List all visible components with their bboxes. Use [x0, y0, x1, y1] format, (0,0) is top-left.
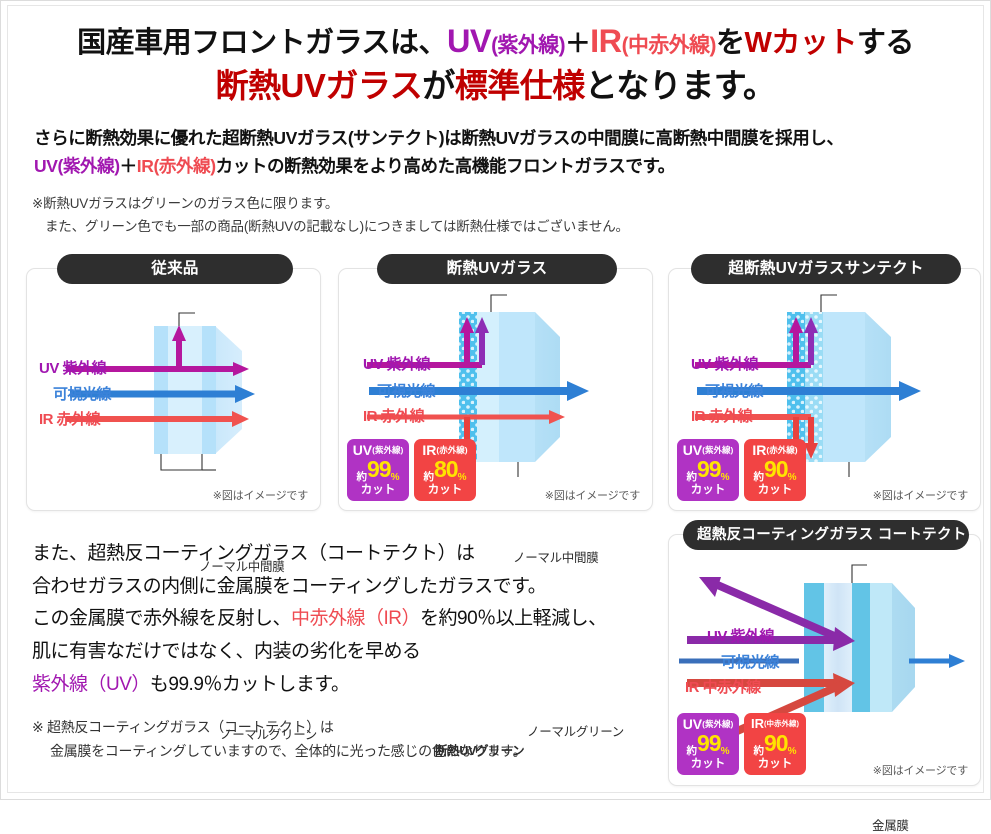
- badge-ir-bottom-coat-tect: カット: [744, 759, 806, 771]
- main-headline: 国産車用フロントガラスは、UV(紫外線)＋IR(中赤外線)をWカットする 断熱U…: [8, 22, 983, 106]
- badge-ir-head-suntect: IR(赤外線): [744, 443, 806, 457]
- badge-uv-value-coat-tect: 約99%: [677, 732, 739, 757]
- ray-label-uv-heat-shield: UV 紫外線: [363, 353, 430, 374]
- coat-tect-line-2: 合わせガラスの内側に金属膜をコーティングしたガラスです。: [32, 571, 662, 604]
- disclaimer-notes: ※断熱UVガラスはグリーンのガラス色に限ります。 また、グリーン色でも一部の商品…: [32, 192, 972, 239]
- badge-ir-bottom-heat-shield: カット: [414, 485, 476, 497]
- badge-ir-head-heat-shield: IR(赤外線): [414, 443, 476, 457]
- card-coat-tect: 超熱反コーティングガラス コートテクト: [668, 534, 981, 786]
- text-run: が: [422, 67, 455, 104]
- ray-label-ir-heat-shield: IR 赤外線: [363, 405, 424, 426]
- text-run: IR(赤外線): [137, 156, 216, 176]
- lead-paragraph: さらに断熱効果に優れた超断熱UVガラス(サンテクト)は断熱UVガラスの中間膜に高…: [34, 124, 974, 181]
- text-run: UV(紫外線): [34, 156, 120, 176]
- ray-label-ir-suntect: IR 赤外線: [691, 405, 752, 426]
- card-title-suntect: 超断熱UVガラスサンテクト: [691, 254, 961, 284]
- badge-uv-bottom-suntect: カット: [677, 485, 739, 497]
- badge-uv-head-coat-tect: UV(紫外線): [677, 717, 739, 731]
- text-run: 紫外線（UV）: [32, 674, 150, 695]
- text-run: する: [857, 27, 914, 59]
- callout-metal-film-coat-tect: 金属膜: [872, 815, 909, 834]
- badges-suntect: UV(紫外線) 約99% カット IR(赤外線) 約90% カット: [677, 439, 806, 501]
- badge-uv-value-heat-shield: 約99%: [347, 458, 409, 483]
- text-run: UV: [447, 23, 491, 59]
- badge-uv-head-suntect: UV(紫外線): [677, 443, 739, 457]
- headline-line-1: 国産車用フロントガラスは、UV(紫外線)＋IR(中赤外線)をWカットする: [8, 22, 983, 62]
- text-run: 断熱UVガラス: [216, 67, 423, 104]
- badge-uv-coat-tect: UV(紫外線) 約99% カット: [677, 713, 739, 775]
- badge-ir-suntect: IR(赤外線) 約90% カット: [744, 439, 806, 501]
- headline-line-2: 断熱UVガラスが標準仕様となります。: [8, 66, 983, 106]
- text-run: 国産車用フロントガラスは、: [77, 27, 447, 59]
- lead-line-1: さらに断熱効果に優れた超断熱UVガラス(サンテクト)は断熱UVガラスの中間膜に高…: [34, 124, 974, 152]
- coat-tect-note-line-1: ※ 超熱反コーティングガラス（コートテクト）は: [32, 719, 334, 735]
- badge-uv-suntect: UV(紫外線) 約99% カット: [677, 439, 739, 501]
- image-note-conventional: ※図はイメージです: [213, 487, 308, 503]
- text-run: も99.9％カットします。: [150, 674, 350, 695]
- ray-label-uv-suntect: UV 紫外線: [691, 353, 758, 374]
- badge-ir-value-suntect: 約90%: [744, 458, 806, 483]
- text-run: この金属膜で赤外線を反射し、: [32, 608, 291, 629]
- text-run: 標準仕様: [455, 67, 585, 104]
- lead-line-2: UV(紫外線)＋IR(赤外線)カットの断熱効果をより高めた高機能フロントガラスで…: [34, 152, 974, 180]
- ray-label-ir-mid-coat-tect: IR 中赤外線: [685, 676, 761, 697]
- ray-label-uv-conventional: UV 紫外線: [39, 357, 106, 378]
- image-note-heat-shield: ※図はイメージです: [545, 487, 640, 503]
- card-conventional: 従来品: [26, 268, 321, 511]
- badge-ir-heat-shield: IR(赤外線) 約80% カット: [414, 439, 476, 501]
- badges-heat-shield-uv: UV(紫外線) 約99% カット IR(赤外線) 約80% カット: [347, 439, 476, 501]
- text-run: (紫外線): [491, 34, 565, 57]
- ray-label-uv-coat-tect: UV 紫外線: [707, 625, 774, 646]
- ray-label-visible-coat-tect: 可視光線: [721, 651, 779, 672]
- image-note-suntect: ※図はイメージです: [873, 487, 968, 503]
- badge-ir-head-coat-tect: IR(中赤外線): [744, 717, 806, 730]
- text-run: (中赤外線): [622, 34, 716, 57]
- card-heat-shield-uv: 断熱UVガラス: [338, 268, 653, 511]
- badge-uv-heat-shield: UV(紫外線) 約99% カット: [347, 439, 409, 501]
- badge-uv-head-heat-shield: UV(紫外線): [347, 443, 409, 457]
- text-run: 中赤外線（IR）: [291, 608, 420, 629]
- text-run: を約90％以上軽減し、: [420, 608, 607, 629]
- coat-tect-line-1: また、超熱反コーティングガラス（コートテクト）は: [32, 538, 662, 571]
- ray-label-visible-heat-shield: 可視光線: [377, 380, 435, 401]
- ray-label-ir-conventional: IR 赤外線: [39, 408, 100, 429]
- infographic-page: 国産車用フロントガラスは、UV(紫外線)＋IR(中赤外線)をWカットする 断熱U…: [0, 0, 991, 800]
- text-run: IR: [590, 23, 621, 59]
- card-title-coat-tect: 超熱反コーティングガラス コートテクト: [683, 520, 969, 550]
- coat-tect-description: また、超熱反コーティングガラス（コートテクト）は 合わせガラスの内側に金属膜をコ…: [32, 538, 662, 701]
- coat-tect-note-line-2: 金属膜をコーティングしていますので、全体的に光った感じの色になります。: [32, 740, 662, 764]
- text-run: ＋: [120, 156, 137, 176]
- card-title-heat-shield-uv: 断熱UVガラス: [377, 254, 617, 284]
- text-run: Wカット: [745, 27, 857, 59]
- note-line-2: また、グリーン色でも一部の商品(断熱UVの記載なし)につきましては断熱仕様ではご…: [32, 215, 972, 238]
- ray-label-visible-suntect: 可視光線: [705, 380, 763, 401]
- text-run: となります。: [585, 67, 776, 104]
- badge-ir-bottom-suntect: カット: [744, 485, 806, 497]
- text-run: カットの断熱効果をより高めた高機能フロントガラスです。: [216, 156, 675, 176]
- image-note-coat-tect: ※図はイメージです: [873, 762, 968, 778]
- coat-tect-note: ※ 超熱反コーティングガラス（コートテクト）は 金属膜をコーティングしていますの…: [32, 716, 662, 764]
- page-inner-frame: 国産車用フロントガラスは、UV(紫外線)＋IR(中赤外線)をWカットする 断熱U…: [7, 5, 984, 793]
- coat-tect-line-4: 肌に有害なだけではなく、内装の劣化を早める: [32, 636, 662, 669]
- badges-coat-tect: UV(紫外線) 約99% カット IR(中赤外線) 約90% カット: [677, 713, 806, 775]
- ray-label-visible-conventional: 可視光線: [53, 383, 111, 404]
- coat-tect-line-5: 紫外線（UV）も99.9％カットします。: [32, 669, 662, 702]
- text-run: ＋: [565, 30, 590, 58]
- badge-uv-bottom-heat-shield: カット: [347, 485, 409, 497]
- card-title-conventional: 従来品: [57, 254, 293, 284]
- text-run: を: [716, 27, 745, 59]
- badge-uv-bottom-coat-tect: カット: [677, 759, 739, 771]
- coat-tect-line-3: この金属膜で赤外線を反射し、中赤外線（IR）を約90％以上軽減し、: [32, 603, 662, 636]
- badge-ir-coat-tect: IR(中赤外線) 約90% カット: [744, 713, 806, 775]
- badge-uv-value-suntect: 約99%: [677, 458, 739, 483]
- badge-ir-value-coat-tect: 約90%: [744, 732, 806, 757]
- card-suntect: 超断熱UVガラスサンテクト: [668, 268, 981, 511]
- badge-ir-value-heat-shield: 約80%: [414, 458, 476, 483]
- note-line-1: ※断熱UVガラスはグリーンのガラス色に限ります。: [32, 196, 338, 211]
